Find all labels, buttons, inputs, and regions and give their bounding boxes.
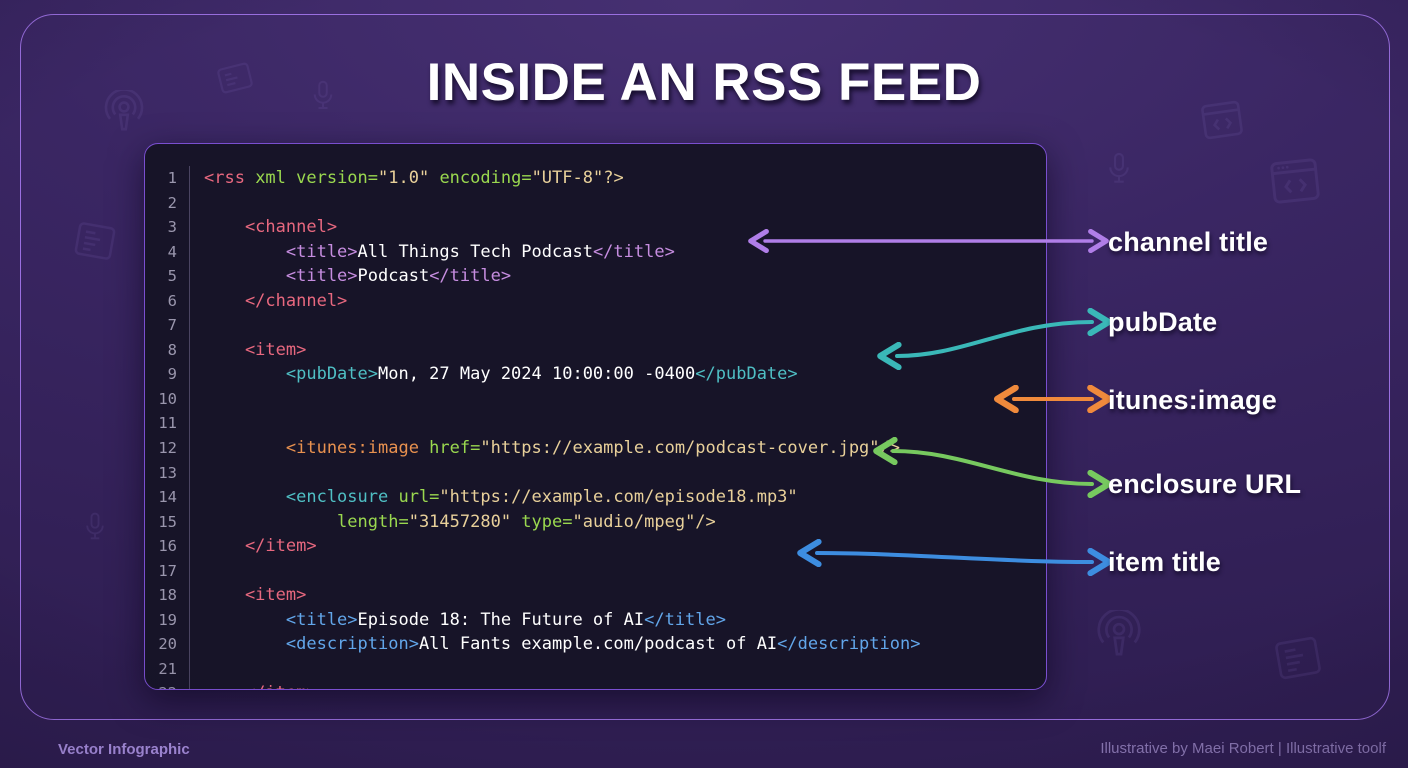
code-token: </title> (429, 266, 511, 286)
code-line-text: length="31457280" type="audio/mpeg"/> (190, 510, 1046, 535)
code-token: url= (398, 487, 439, 507)
code-token: "1.0" (378, 168, 439, 188)
code-token: <description> (204, 634, 419, 654)
footer-left-text: Vector Infographic (58, 741, 190, 758)
code-line: 12 <itunes:image href="https://example.c… (145, 436, 1046, 461)
code-line-text: <description>All Fants example.com/podca… (190, 632, 1046, 657)
line-number: 10 (145, 387, 189, 412)
line-number: 19 (145, 608, 189, 633)
code-token: </channel> (204, 291, 347, 311)
code-line: 4 <title>All Things Tech Podcast</title> (145, 240, 1046, 265)
line-number: 6 (145, 289, 189, 314)
gutter-divider (189, 191, 190, 216)
line-number: 3 (145, 215, 189, 240)
code-line-text: <enclosure url="https://example.com/epis… (190, 485, 1046, 510)
annotation-label: channel title (1108, 227, 1268, 258)
gutter-divider (189, 411, 190, 436)
code-line: 1<rss xml version="1.0" encoding="UTF-8"… (145, 166, 1046, 191)
code-line-text: <channel> (190, 215, 1046, 240)
annotation-label: itunes:image (1108, 385, 1277, 416)
code-token: "https://example.com/podcast-cover.jpg"/… (480, 438, 900, 458)
page-title: INSIDE AN RSS FEED (0, 52, 1408, 113)
code-line-text: </item> (190, 681, 1046, 690)
code-token: xml version= (255, 168, 378, 188)
line-number: 5 (145, 264, 189, 289)
code-line: 6 </channel> (145, 289, 1046, 314)
code-line: 22 </item> (145, 681, 1046, 690)
annotation-label: item title (1108, 547, 1221, 578)
code-token: Episode 18: The Future of AI (358, 610, 645, 630)
code-line-text: <itunes:image href="https://example.com/… (190, 436, 1046, 461)
code-line-text: <pubDate>Mon, 27 May 2024 10:00:00 -0400… (190, 362, 1046, 387)
gutter-divider (189, 657, 190, 682)
code-line-text: <title>All Things Tech Podcast</title> (190, 240, 1046, 265)
code-token: type= (521, 512, 572, 532)
code-line: 10 (145, 387, 1046, 412)
code-line: 16 </item> (145, 534, 1046, 559)
line-number: 18 (145, 583, 189, 608)
annotation-label: pubDate (1108, 307, 1217, 338)
microphone-icon (1100, 150, 1138, 188)
code-line: 19 <title>Episode 18: The Future of AI</… (145, 608, 1046, 633)
code-line-text: <title>Episode 18: The Future of AI</tit… (190, 608, 1046, 633)
code-line: 20 <description>All Fants example.com/po… (145, 632, 1046, 657)
code-token: <title> (204, 610, 358, 630)
code-token: <pubDate> (204, 364, 378, 384)
gutter-divider (189, 313, 190, 338)
gutter-divider (189, 461, 190, 486)
line-number: 21 (145, 657, 189, 682)
line-number: 22 (145, 681, 189, 690)
code-line-text: <title>Podcast</title> (190, 264, 1046, 289)
code-token: </item> (204, 683, 317, 690)
code-token: </title> (644, 610, 726, 630)
code-line: 17 (145, 559, 1046, 584)
code-token: "https://example.com/episode18.mp3" (439, 487, 797, 507)
line-number: 17 (145, 559, 189, 584)
code-token: "UTF-8"?> (532, 168, 624, 188)
code-token: <itunes:image (204, 438, 429, 458)
code-line: 11 (145, 411, 1046, 436)
code-token: length= (204, 512, 409, 532)
code-token: encoding= (439, 168, 531, 188)
code-line: 7 (145, 313, 1046, 338)
code-line: 14 <enclosure url="https://example.com/e… (145, 485, 1046, 510)
line-number: 2 (145, 191, 189, 216)
code-token: </title> (593, 242, 675, 262)
code-token: <title> (204, 242, 358, 262)
line-number: 8 (145, 338, 189, 363)
code-token: </pubDate> (695, 364, 797, 384)
code-line-text: <item> (190, 583, 1046, 608)
code-token: "31457280" (409, 512, 522, 532)
code-line: 9 <pubDate>Mon, 27 May 2024 10:00:00 -04… (145, 362, 1046, 387)
code-token: href= (429, 438, 480, 458)
code-line: 8 <item> (145, 338, 1046, 363)
line-number: 15 (145, 510, 189, 535)
line-number: 7 (145, 313, 189, 338)
infographic-canvas: INSIDE AN RSS FEED 1<rss xml version="1.… (0, 0, 1408, 768)
document-icon (1268, 628, 1328, 688)
code-line-text: </item> (190, 534, 1046, 559)
line-number: 20 (145, 632, 189, 657)
code-token: </description> (777, 634, 920, 654)
podcast-icon (1092, 610, 1146, 664)
code-line-text: <rss xml version="1.0" encoding="UTF-8"?… (190, 166, 1046, 191)
footer-right-text: Illustrative by Maei Robert | Illustrati… (1100, 740, 1386, 757)
microphone-icon (78, 510, 112, 544)
code-line: 18 <item> (145, 583, 1046, 608)
line-number: 11 (145, 411, 189, 436)
line-number: 16 (145, 534, 189, 559)
code-token: </item> (204, 536, 317, 556)
line-number: 13 (145, 461, 189, 486)
document-icon (68, 214, 121, 267)
code-token: All Things Tech Podcast (358, 242, 593, 262)
code-line: 5 <title>Podcast</title> (145, 264, 1046, 289)
annotation-label: enclosure URL (1108, 469, 1301, 500)
code-token: <item> (204, 585, 306, 605)
code-token: <title> (204, 266, 358, 286)
code-token: <channel> (204, 217, 337, 237)
code-token: <enclosure (204, 487, 398, 507)
code-line: 2 (145, 191, 1046, 216)
gutter-divider (189, 387, 190, 412)
line-number: 12 (145, 436, 189, 461)
code-token: <item> (204, 340, 306, 360)
code-token: <rss (204, 168, 255, 188)
code-window-icon (1263, 149, 1327, 213)
code-line: 21 (145, 657, 1046, 682)
code-panel: 1<rss xml version="1.0" encoding="UTF-8"… (144, 143, 1047, 690)
line-number: 9 (145, 362, 189, 387)
code-line-text: <item> (190, 338, 1046, 363)
code-line: 15 length="31457280" type="audio/mpeg"/> (145, 510, 1046, 535)
code-token: "audio/mpeg"/> (572, 512, 715, 532)
code-line: 13 (145, 461, 1046, 486)
code-line: 3 <channel> (145, 215, 1046, 240)
code-line-text: </channel> (190, 289, 1046, 314)
code-token: All Fants example.com/podcast of AI (419, 634, 777, 654)
line-number: 14 (145, 485, 189, 510)
line-number: 4 (145, 240, 189, 265)
code-token: Mon, 27 May 2024 10:00:00 -0400 (378, 364, 695, 384)
code-token: Podcast (358, 266, 430, 286)
line-number: 1 (145, 166, 189, 191)
gutter-divider (189, 559, 190, 584)
code-lines-container: 1<rss xml version="1.0" encoding="UTF-8"… (145, 144, 1046, 689)
